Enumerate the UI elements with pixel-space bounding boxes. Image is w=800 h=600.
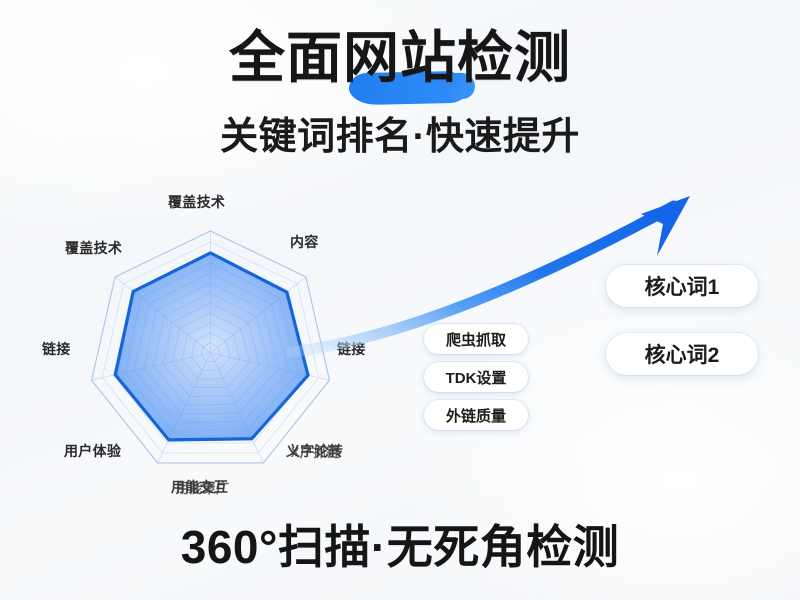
poster-canvas: 全面网站检测 关键词排名·快速提升 覆盖技术 内容 链接 <box>0 0 800 600</box>
page-bottom-caption: 360°扫描·无死角检测 <box>0 524 800 570</box>
tag-backlink-quality[interactable]: 外链质量 <box>424 400 528 430</box>
radar-label-lower-right-overlay: X户抓链 <box>291 442 340 462</box>
radar-label-lower-left: 用户体验 <box>64 441 121 461</box>
keyword-pill-2[interactable]: 核心词2 <box>606 333 758 375</box>
radar-label-bottom: 用能交互 用能聚广 <box>171 477 228 497</box>
radar-label-bottom-overlay: 用能聚广 <box>176 478 230 498</box>
radar-label-left: 链接 <box>42 339 71 359</box>
page-title: 全面网站检测 <box>0 30 800 86</box>
page-subtitle: 关键词排名·快速提升 <box>0 118 800 156</box>
radar-label-upper-left: 覆盖技术 <box>65 238 122 258</box>
tag-crawl[interactable]: 爬虫抓取 <box>424 324 528 354</box>
radar-label-lower-right: 义字论转 X户抓链 <box>286 441 343 461</box>
keyword-pill-1[interactable]: 核心词1 <box>606 265 758 307</box>
tag-tdk[interactable]: TDK设置 <box>424 362 528 392</box>
radar-label-top: 覆盖技术 <box>168 192 225 212</box>
